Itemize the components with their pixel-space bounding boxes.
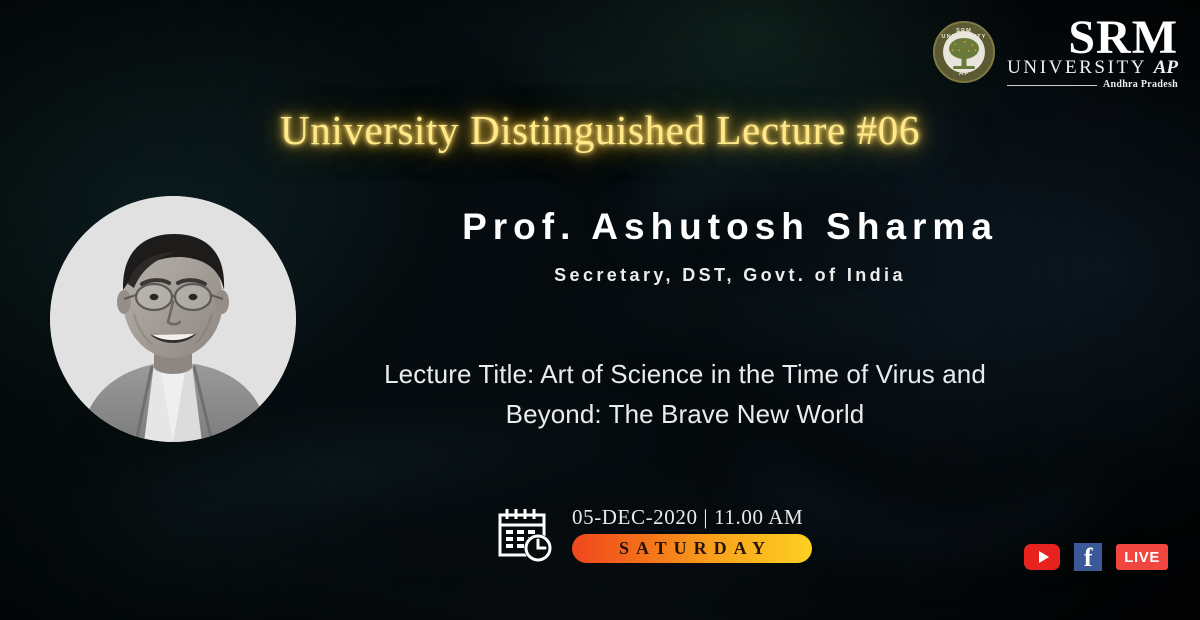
- event-date-time: 05-DEC-2020 | 11.00 AM: [572, 505, 812, 530]
- event-day-badge: SATURDAY: [572, 534, 812, 563]
- play-triangle-icon: [1039, 551, 1049, 563]
- speaker-portrait: [50, 196, 296, 442]
- lecture-announcement-poster: SRM UNIVERSITY AP SRM UNIVERSITY AP Andh…: [0, 0, 1200, 620]
- live-badge[interactable]: LIVE: [1116, 544, 1168, 570]
- event-text: 05-DEC-2020 | 11.00 AM SATURDAY: [572, 505, 812, 563]
- university-seal-icon: SRM UNIVERSITY AP: [933, 21, 995, 83]
- logo-srm-text: SRM: [1068, 14, 1178, 62]
- logo-state-row: Andhra Pradesh: [1007, 80, 1178, 90]
- facebook-icon[interactable]: f: [1074, 543, 1102, 571]
- seal-bottom-label: AP: [935, 71, 993, 77]
- logo-divider: [1007, 85, 1097, 86]
- calendar-clock-icon: [494, 503, 556, 565]
- event-datetime-block: 05-DEC-2020 | 11.00 AM SATURDAY: [494, 503, 812, 565]
- page-title: University Distinguished Lecture #06: [0, 106, 1200, 154]
- lecture-title: Lecture Title: Art of Science in the Tim…: [280, 354, 1090, 435]
- speaker-name: Prof. Ashutosh Sharma: [300, 206, 1160, 248]
- logo-ap-word: AP: [1154, 57, 1178, 78]
- youtube-icon[interactable]: [1024, 544, 1060, 570]
- lecture-title-line-1: Lecture Title: Art of Science in the Tim…: [280, 354, 1090, 394]
- lecture-title-line-2: Beyond: The Brave New World: [280, 394, 1090, 434]
- logo-wordmark: SRM UNIVERSITY AP Andhra Pradesh: [1007, 14, 1178, 90]
- event-day-label: SATURDAY: [612, 538, 772, 559]
- logo-state-text: Andhra Pradesh: [1103, 80, 1178, 90]
- social-links: f LIVE: [1024, 543, 1168, 571]
- logo-university-word: UNIVERSITY: [1007, 57, 1146, 78]
- speaker-role: Secretary, DST, Govt. of India: [300, 265, 1160, 286]
- srm-university-logo: SRM UNIVERSITY AP SRM UNIVERSITY AP Andh…: [933, 14, 1178, 90]
- seal-top-label: SRM UNIVERSITY: [935, 28, 993, 40]
- tree-ground: [953, 66, 975, 69]
- logo-university-text: UNIVERSITY AP: [1007, 58, 1178, 77]
